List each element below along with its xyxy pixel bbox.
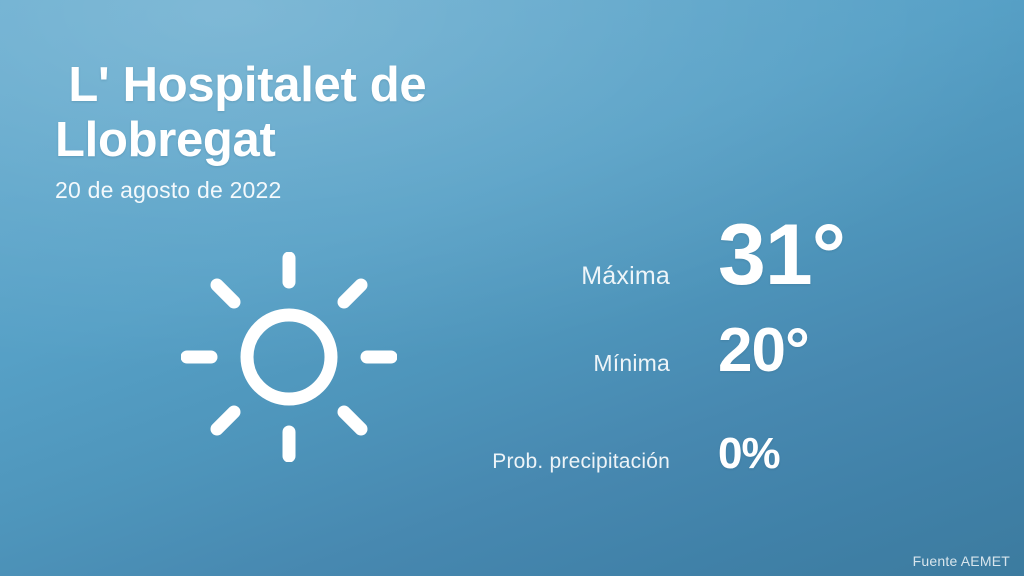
reading-value-maxima: 31° [670,212,845,298]
reading-row-maxima: Máxima 31° [380,212,940,320]
card-header: L' Hospitalet de Llobregat 20 de agosto … [55,58,655,204]
reading-label: Prob. precipitación [380,450,670,474]
reading-row-minima: Mínima 20° [380,320,940,432]
reading-row-precipitacion: Prob. precipitación 0% [380,432,940,502]
forecast-date: 20 de agosto de 2022 [55,177,655,204]
reading-label: Mínima [380,350,670,377]
reading-label: Máxima [380,262,670,291]
reading-value-minima: 20° [670,320,809,382]
weather-card: L' Hospitalet de Llobregat 20 de agosto … [0,0,1024,576]
page-title: L' Hospitalet de Llobregat [55,58,655,168]
readings-list: Máxima 31° Mínima 20° Prob. precipitació… [380,212,940,502]
reading-value-precipitacion: 0% [670,432,780,476]
sun-icon [181,252,397,462]
source-attribution: Fuente AEMET [913,553,1010,569]
